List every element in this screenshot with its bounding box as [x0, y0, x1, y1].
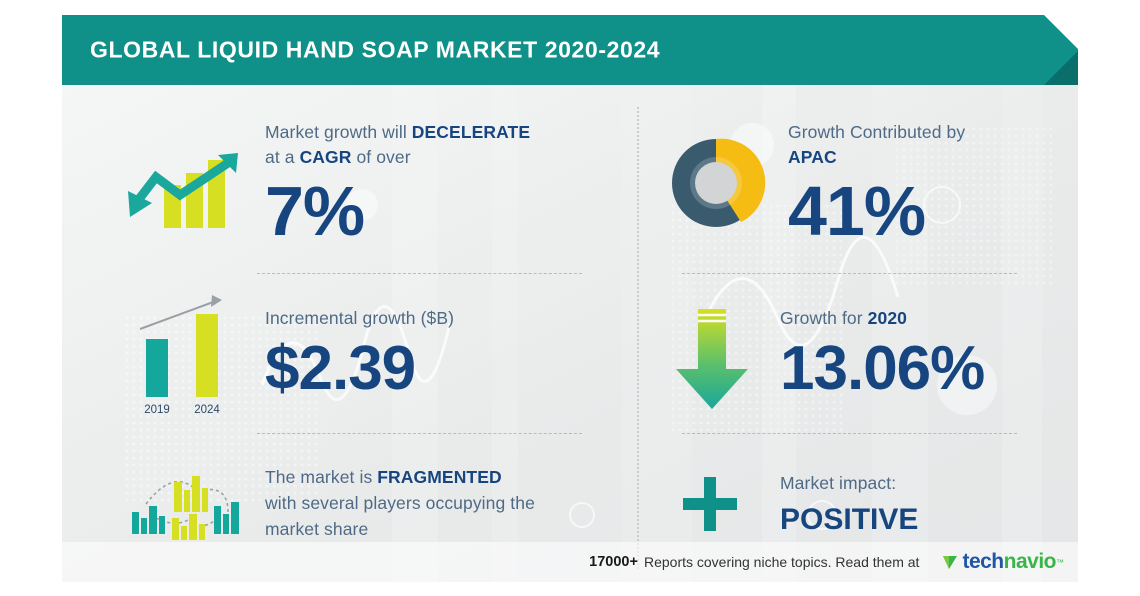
left-divider-1: [257, 273, 582, 274]
bar-label-2019: 2019: [144, 404, 170, 416]
footer-report-count: 17000+: [589, 554, 638, 570]
left-divider-2: [257, 433, 582, 434]
growth-2020-value: 13.06%: [780, 338, 984, 400]
content-area: Market growth will DECELERATE at a CAGR …: [62, 85, 1078, 582]
bar-label-2024: 2024: [194, 404, 220, 416]
stat-block-cagr: Market growth will DECELERATE at a CAGR …: [122, 103, 642, 263]
cagr-value: 7%: [265, 176, 530, 246]
stat-block-growth-2020: Growth for 2020 13.06%: [662, 283, 1078, 423]
right-divider-1: [682, 273, 1017, 274]
two-bars-growth-icon: 2019 2024: [122, 291, 247, 416]
city-clusters-icon: [122, 456, 247, 551]
down-arrow-icon: [662, 291, 762, 416]
stat-block-apac: Growth Contributed by APAC 41%: [662, 103, 1078, 263]
page-title: GLOBAL LIQUID HAND SOAP MARKET 2020-2024: [90, 37, 660, 64]
footer-tagline: Reports covering niche topics. Read them…: [644, 554, 919, 570]
apac-texts: Growth Contributed by APAC 41%: [788, 120, 965, 247]
fragmented-texts: The market is FRAGMENTED with several pl…: [265, 464, 535, 543]
market-impact-lead: Market impact:: [780, 471, 918, 496]
growth-2020-texts: Growth for 2020 13.06%: [780, 306, 984, 399]
header-banner: GLOBAL LIQUID HAND SOAP MARKET 2020-2024: [62, 15, 1078, 85]
logo-text-tech: tech: [962, 550, 1003, 574]
header-fold-notch: [1044, 15, 1078, 49]
logo-text-navio: navio: [1004, 550, 1056, 574]
cagr-texts: Market growth will DECELERATE at a CAGR …: [265, 120, 530, 247]
apac-lead: Growth Contributed by APAC: [788, 120, 965, 171]
stat-block-incremental-growth: 2019 2024 Incremental growth ($B) $2.39: [122, 283, 642, 423]
footer-bar: 17000+ Reports covering niche topics. Re…: [62, 542, 1078, 582]
cagr-lead: Market growth will DECELERATE at a CAGR …: [265, 120, 530, 171]
market-impact-value: POSITIVE: [780, 505, 918, 535]
donut-chart-icon: [662, 129, 770, 237]
infographic-canvas: GLOBAL LIQUID HAND SOAP MARKET 2020-2024: [0, 0, 1140, 596]
incremental-texts: Incremental growth ($B) $2.39: [265, 306, 454, 399]
header-fold-shadow: [1044, 51, 1078, 85]
logo-trademark: ™: [1056, 558, 1064, 567]
declining-bar-chart-icon: [122, 133, 247, 233]
incremental-value: $2.39: [265, 338, 454, 400]
incremental-lead: Incremental growth ($B): [265, 306, 454, 331]
fragmented-lead: The market is FRAGMENTED with several pl…: [265, 464, 535, 543]
apac-value: 41%: [788, 176, 965, 246]
plus-icon: [662, 463, 762, 543]
technavio-leaf-icon: [941, 552, 959, 572]
technavio-logo[interactable]: technavio™: [941, 550, 1064, 574]
right-divider-2: [682, 433, 1017, 434]
market-impact-texts: Market impact: POSITIVE: [780, 471, 918, 534]
body-panel: Market growth will DECELERATE at a CAGR …: [62, 85, 1078, 582]
growth-2020-lead: Growth for 2020: [780, 306, 984, 331]
